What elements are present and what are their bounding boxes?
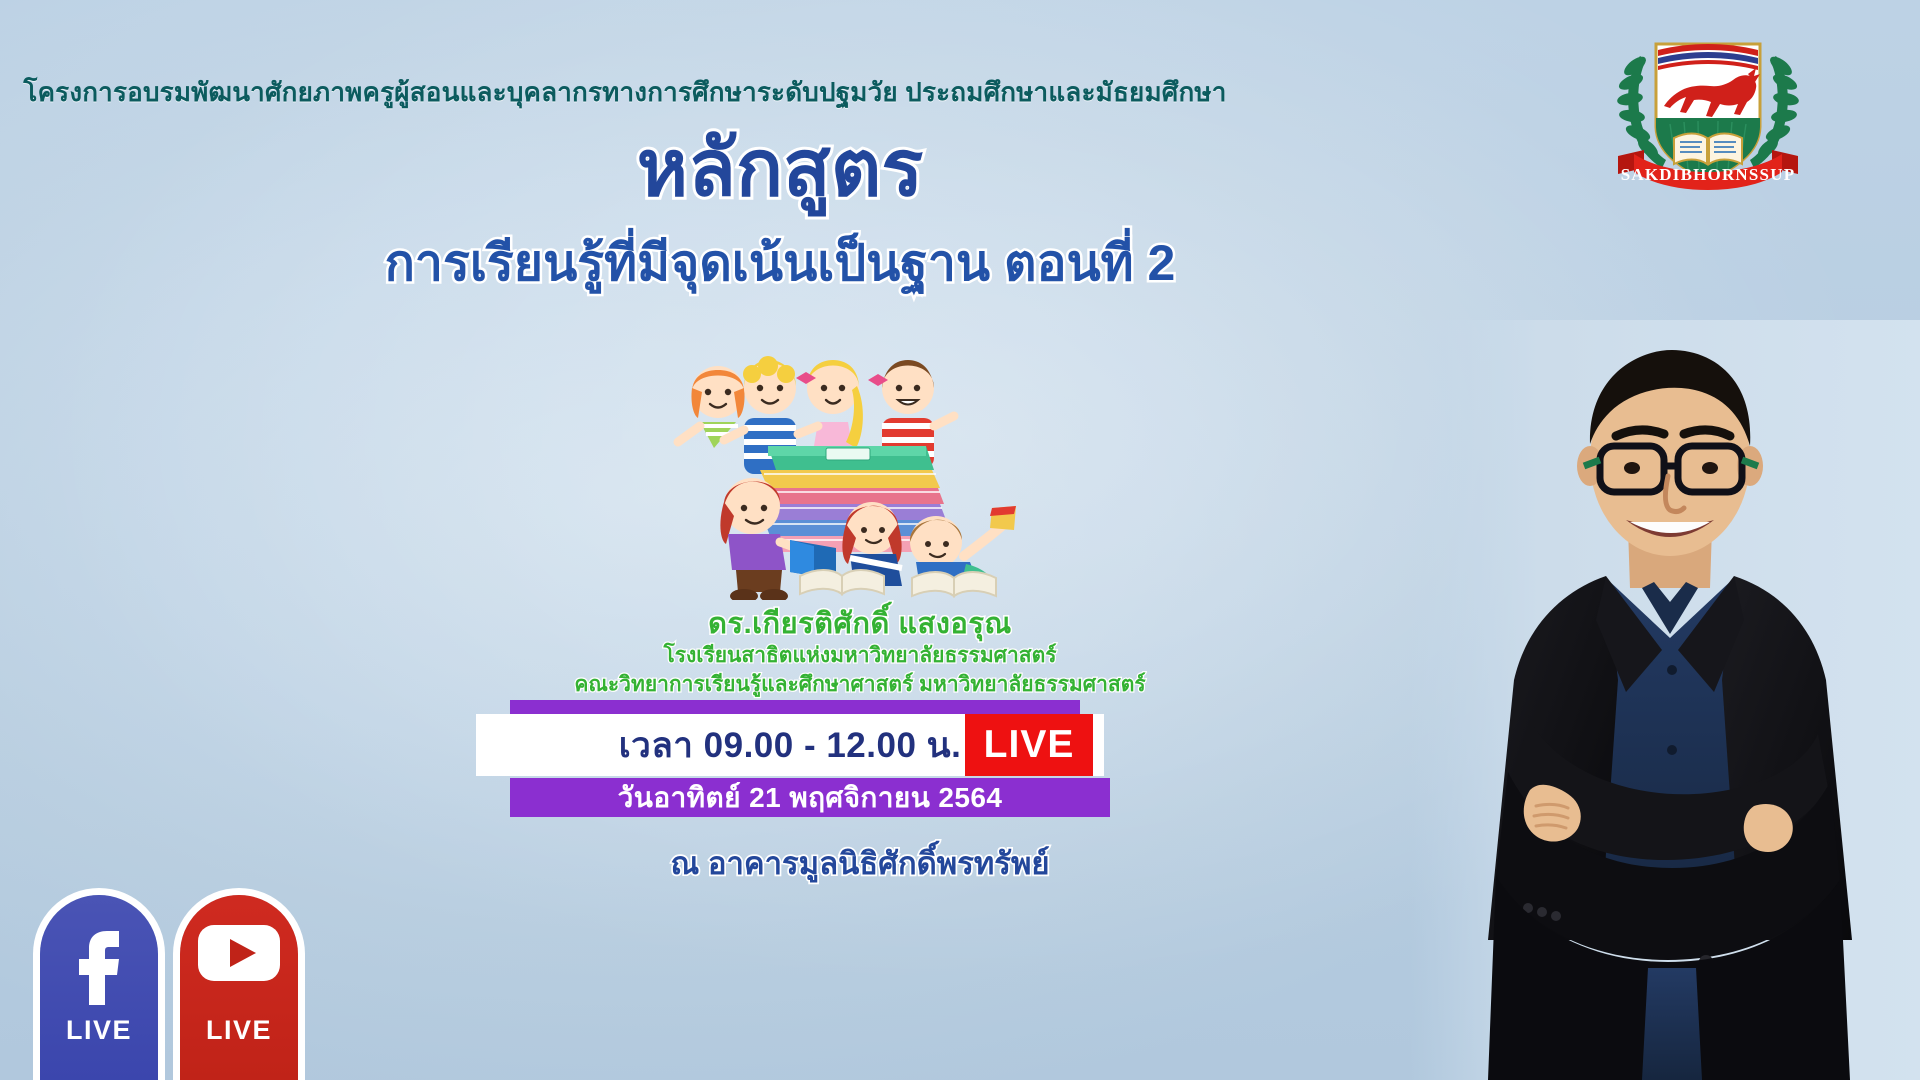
page-title: หลักสูตร (0, 128, 1560, 210)
live-badge-label: LIVE (984, 723, 1075, 767)
crest-banner-text: SAKDIBHORNSSUP (1621, 165, 1796, 184)
presenter-portrait-icon (1410, 320, 1920, 1080)
youtube-live-button[interactable]: LIVE (180, 895, 298, 1080)
youtube-icon (196, 919, 282, 983)
speaker-name: ดร.เกียรติศักดิ์ แสงอรุณ (420, 606, 1300, 642)
project-header-text: โครงการอบรมพัฒนาศักยภาพครูผู้สอนและบุคลา… (0, 72, 1250, 113)
children-books-icon (640, 330, 1060, 600)
speaker-org-line-2: คณะวิทยาการเรียนรู้และศึกษาศาสตร์ มหาวิท… (420, 671, 1300, 700)
social-live-buttons: LIVE LIVE (40, 895, 298, 1080)
page-subtitle: การเรียนรู้ที่มีจุดเน้นเป็นฐาน ตอนที่ 2 (0, 236, 1560, 291)
time-text: เวลา 09.00 - 12.00 น. (619, 718, 962, 773)
sakdibhornssup-logo: SAKDIBHORNSSUP (1600, 14, 1816, 196)
crest-icon: SAKDIBHORNSSUP (1600, 14, 1816, 196)
facebook-icon (69, 919, 129, 1005)
speaker-org-line-1: โรงเรียนสาธิตแห่งมหาวิทยาลัยธรรมศาสตร์ (420, 642, 1300, 671)
facebook-live-label: LIVE (40, 1015, 158, 1046)
webinar-poster: โครงการอบรมพัฒนาศักยภาพครูผู้สอนและบุคลา… (0, 0, 1920, 1080)
youtube-live-label: LIVE (180, 1015, 298, 1046)
live-badge: LIVE (965, 714, 1093, 776)
facebook-live-button[interactable]: LIVE (40, 895, 158, 1080)
presenter-photo (1410, 320, 1920, 1080)
open-book-icon (1674, 134, 1742, 165)
venue-text: ณ อาคารมูลนิธิศักดิ์พรทรัพย์ (420, 838, 1300, 888)
date-bar: วันอาทิตย์ 21 พฤศจิกายน 2564 (510, 778, 1110, 817)
speaker-info: ดร.เกียรติศักดิ์ แสงอรุณ โรงเรียนสาธิตแห… (420, 606, 1300, 700)
children-reading-illustration (640, 330, 1060, 600)
date-text: วันอาทิตย์ 21 พฤศจิกายน 2564 (618, 776, 1003, 820)
